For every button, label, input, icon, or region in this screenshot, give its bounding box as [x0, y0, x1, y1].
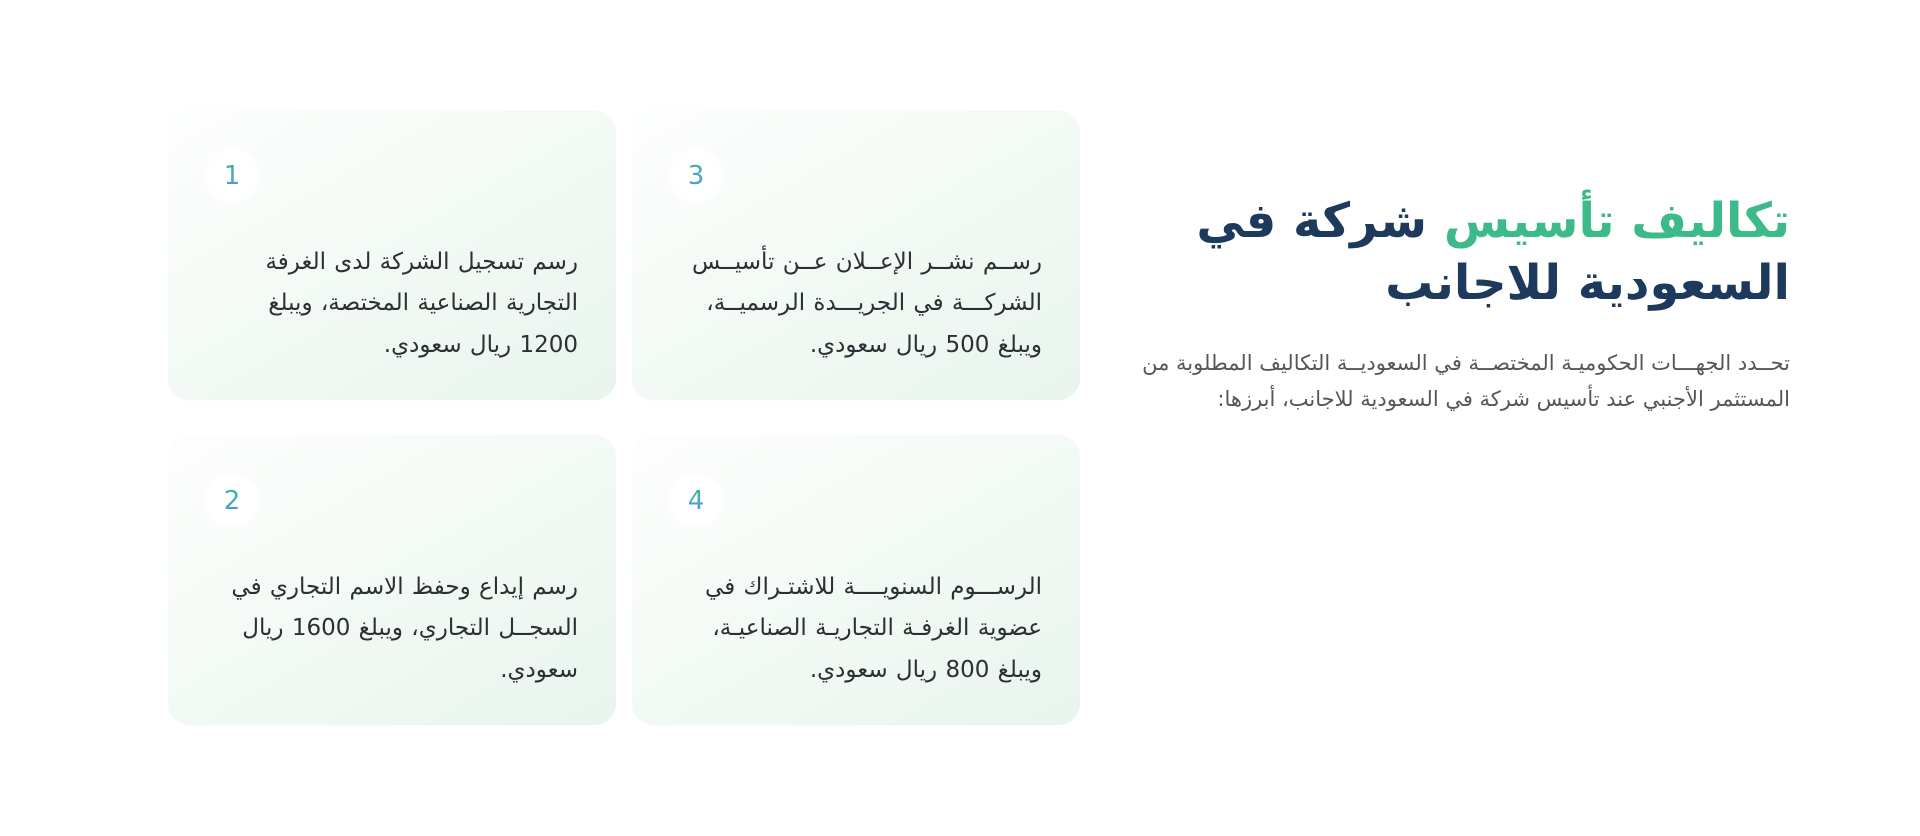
hero-paragraph: تحــدد الجهـــات الحكوميـة المختصــة في …	[1125, 345, 1790, 417]
page-root: 3 رســم نشــر الإعــلان عــن تأسيــس الش…	[0, 0, 1920, 836]
step-number-badge: 3	[670, 150, 722, 202]
cost-cards-grid: 3 رســم نشــر الإعــلان عــن تأسيــس الش…	[168, 110, 1080, 725]
cost-card-text: رســم نشــر الإعــلان عــن تأسيــس الشرك…	[670, 242, 1042, 366]
cost-card-text: رسم إيداع وحفظ الاسم التجاري في السجــل …	[206, 567, 578, 691]
cost-card-3: 3 رســم نشــر الإعــلان عــن تأسيــس الش…	[632, 110, 1080, 400]
step-number-badge: 1	[206, 150, 258, 202]
badge-row: 4	[670, 475, 1042, 549]
step-number-badge: 4	[670, 475, 722, 527]
cost-card-2: 2 رسم إيداع وحفظ الاسم التجاري في السجــ…	[168, 435, 616, 725]
badge-row: 1	[206, 150, 578, 224]
badge-row: 2	[206, 475, 578, 549]
step-number-text: 3	[688, 163, 705, 189]
step-number-text: 2	[224, 488, 241, 514]
cost-card-1: 1 رسم تسجيل الشركة لدى الغرفة التجارية ا…	[168, 110, 616, 400]
step-number-text: 1	[224, 163, 241, 189]
cost-card-4: 4 الرســـوم السنويــــة للاشتـراك في عضو…	[632, 435, 1080, 725]
cost-card-text: رسم تسجيل الشركة لدى الغرفة التجارية الص…	[206, 242, 578, 366]
step-number-badge: 2	[206, 475, 258, 527]
page-title-accent: تكاليف تأسيس	[1444, 193, 1790, 249]
page-title: تكاليف تأسيس شركة في السعودية للاجانب	[1125, 190, 1790, 315]
hero-text-column: تكاليف تأسيس شركة في السعودية للاجانب تح…	[1125, 190, 1790, 417]
badge-row: 3	[670, 150, 1042, 224]
cost-card-text: الرســـوم السنويــــة للاشتـراك في عضوية…	[670, 567, 1042, 691]
step-number-text: 4	[688, 488, 705, 514]
